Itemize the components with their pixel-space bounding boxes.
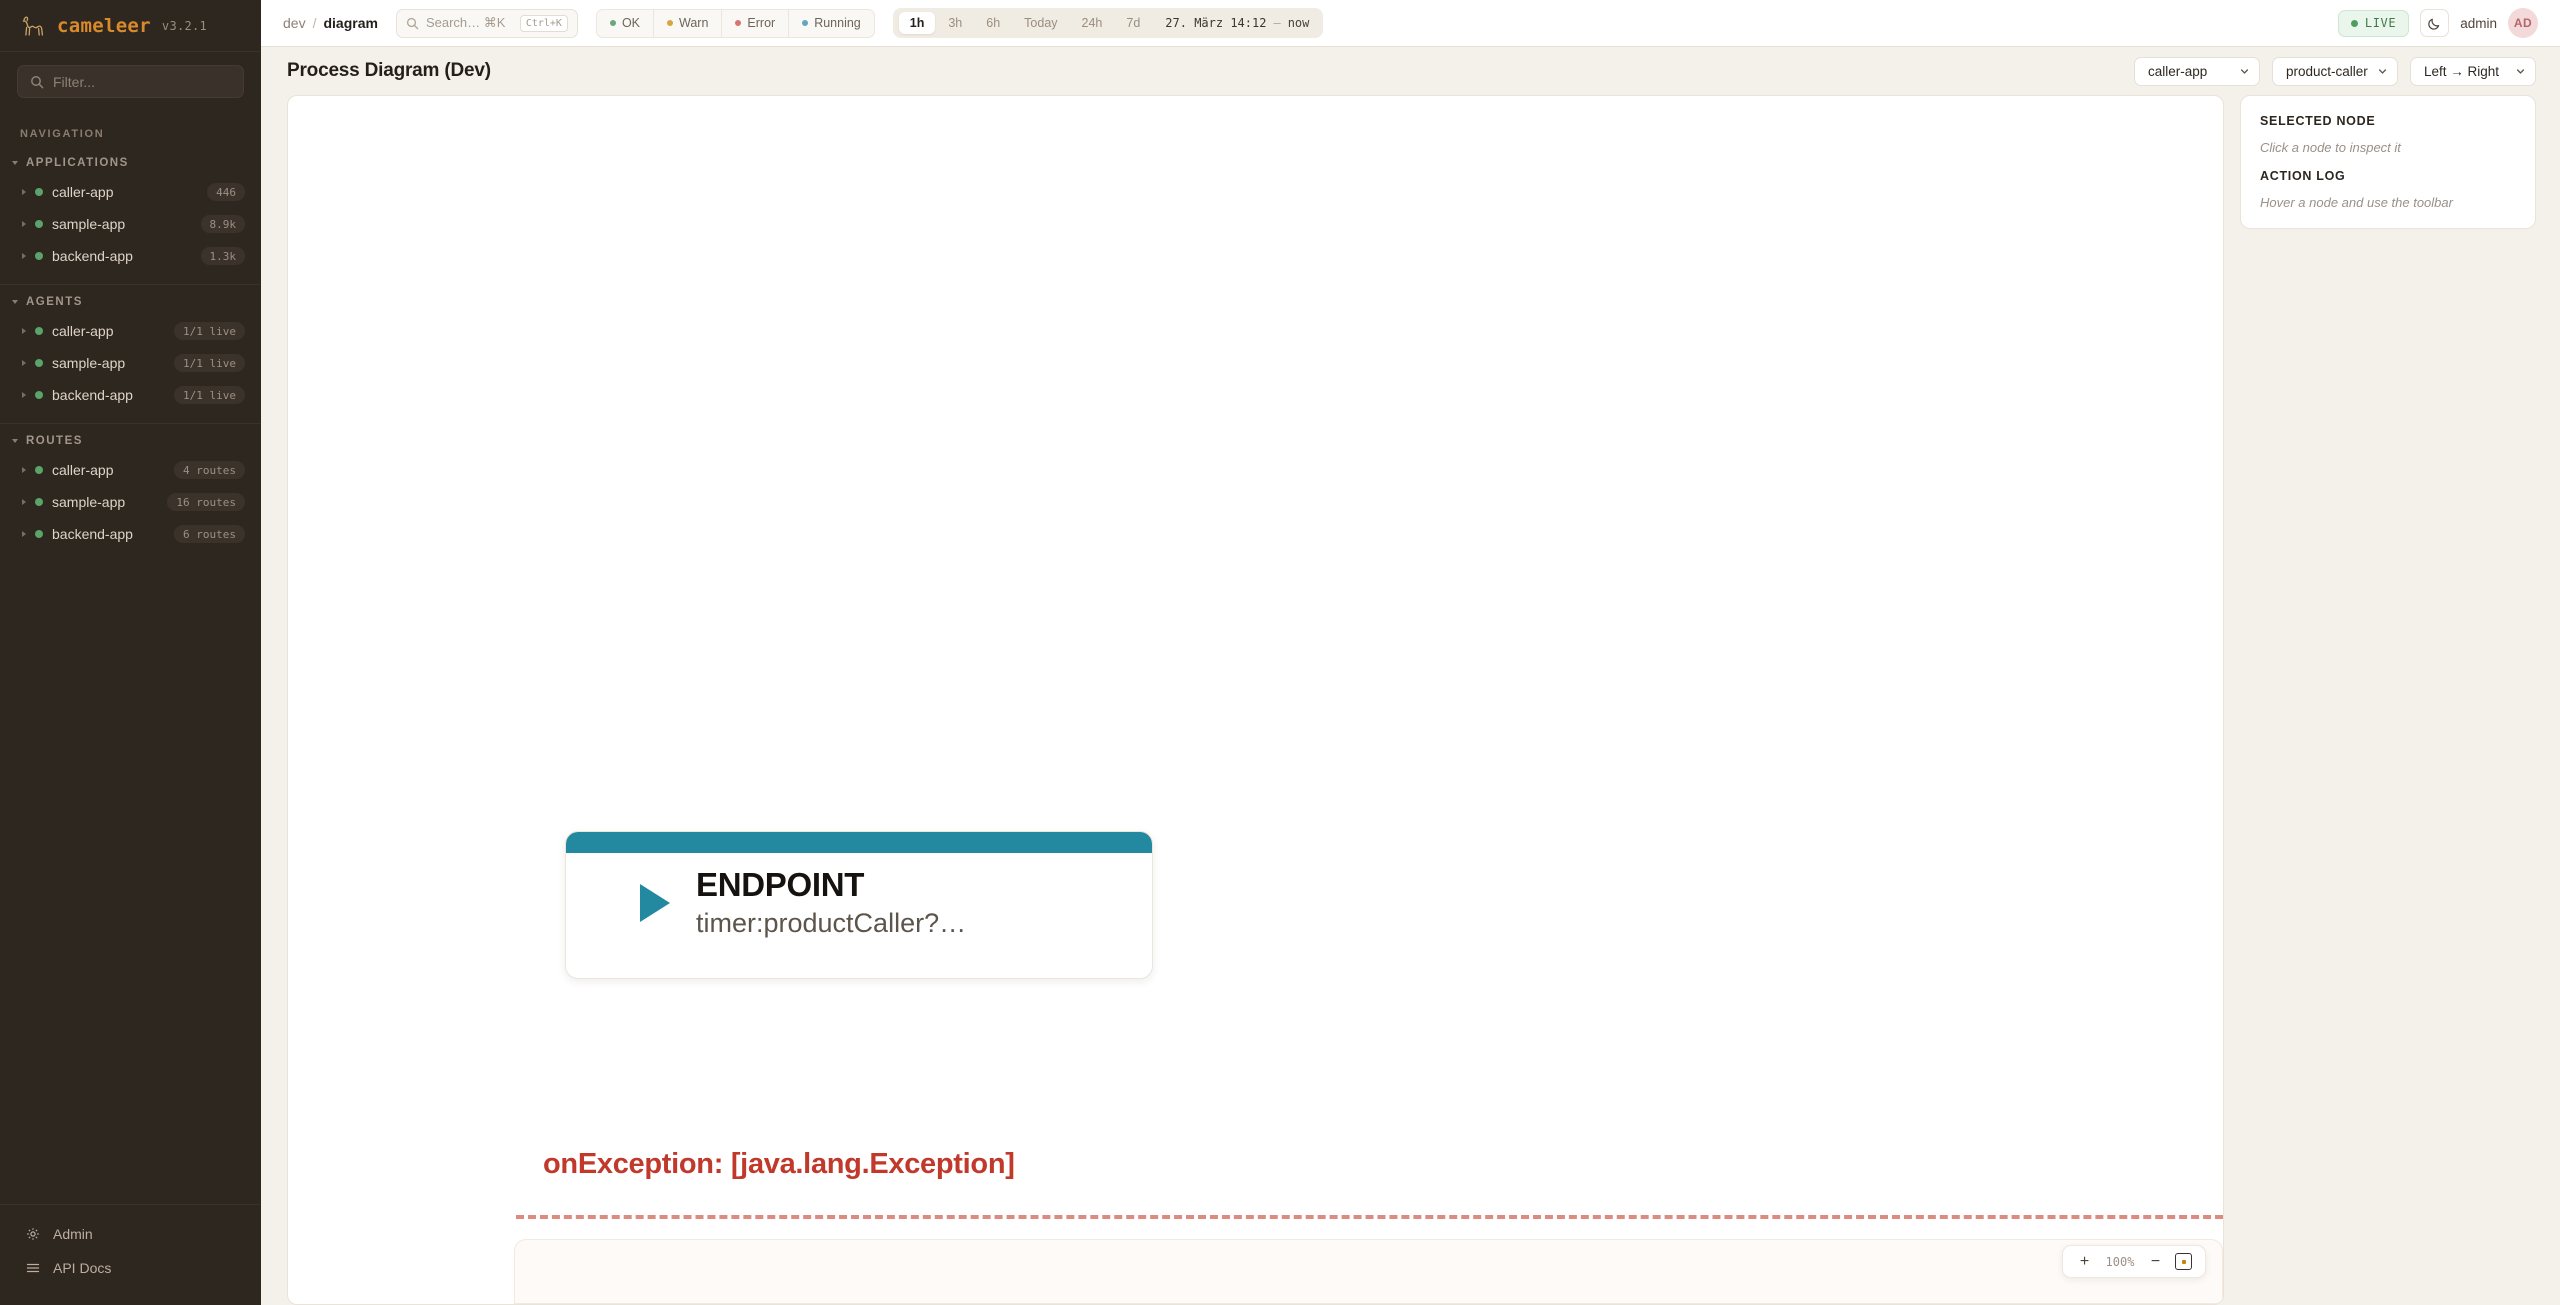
sidebar-item-badge: 1/1 live [174,354,245,372]
chevron-down-icon [2378,67,2387,76]
zoom-controls: + 100% − [2062,1245,2206,1278]
status-filter-ok[interactable]: OK [597,10,654,37]
time-range-to: now [1288,16,1310,30]
avatar[interactable]: AD [2508,8,2538,38]
action-log-hint: Hover a node and use the toolbar [2260,195,2516,210]
chevron-down-icon [2240,67,2249,76]
chevron-right-icon [22,189,26,195]
node-text: ENDPOINT timer:productCaller?… [696,866,966,939]
sidebar-item-badge: 8.9k [201,215,246,233]
inspector-panel: SELECTED NODE Click a node to inspect it… [2240,95,2536,229]
direction-select-value: Left → Right [2424,64,2508,79]
status-dot [35,530,43,538]
sidebar-divider [0,284,261,285]
camel-icon [20,14,46,38]
time-range-dash: – [1273,16,1280,30]
sidebar-item-routes-caller-app[interactable]: caller-app 4 routes [0,454,261,486]
status-dot [35,498,43,506]
sidebar-item-label: sample-app [52,216,192,232]
node-accent-bar [566,832,1152,853]
diagram-node-endpoint[interactable]: ENDPOINT timer:productCaller?… [565,831,1153,979]
page-title: Process Diagram (Dev) [287,60,491,82]
direction-select[interactable]: Left → Right [2410,57,2536,86]
sidebar-item-agents-backend-app[interactable]: backend-app 1/1 live [0,379,261,411]
user-name: admin [2460,16,2497,31]
chevron-right-icon [22,392,26,398]
application-select-value: caller-app [2148,64,2232,79]
sidebar-item-label: sample-app [52,494,158,510]
status-dot-error [735,20,741,26]
search-icon [30,75,44,89]
sidebar-item-applications-caller-app[interactable]: caller-app 446 [0,176,261,208]
sidebar-logo[interactable]: cameleer v3.2.1 [0,0,261,52]
chevron-down-icon [12,439,18,443]
node-body: ENDPOINT timer:productCaller?… [566,853,1152,939]
time-range-from: 27. März 14:12 [1165,16,1266,30]
breadcrumb-root[interactable]: dev [283,15,306,31]
selected-node-title: SELECTED NODE [2260,114,2516,128]
zoom-out-button[interactable]: − [2143,1249,2168,1274]
sidebar-item-admin[interactable]: Admin [0,1217,261,1251]
sidebar-group-routes[interactable]: ROUTES [0,428,261,454]
content-area: ENDPOINT timer:productCaller?… onExcepti… [261,95,2560,1305]
on-exception-divider [516,1215,2223,1219]
theme-toggle-button[interactable] [2420,9,2449,37]
time-range-1h[interactable]: 1h [899,12,936,34]
sidebar-item-label: caller-app [52,323,165,339]
route-select[interactable]: product-caller [2272,57,2398,86]
sidebar-item-label: caller-app [52,184,198,200]
page-header: Process Diagram (Dev) caller-app product… [261,47,2560,95]
chevron-right-icon [22,499,26,505]
sidebar-item-label: backend-app [52,248,192,264]
sidebar-item-routes-backend-app[interactable]: backend-app 6 routes [0,518,261,550]
zoom-level: 100% [2100,1255,2140,1269]
group-label: ROUTES [26,435,83,447]
status-dot [35,188,43,196]
chevron-right-icon [22,531,26,537]
status-label: OK [622,16,640,30]
sidebar-item-applications-sample-app[interactable]: sample-app 8.9k [0,208,261,240]
status-dot-ok [610,20,616,26]
status-dot [35,391,43,399]
fit-view-button[interactable] [2171,1249,2196,1274]
sidebar-item-badge: 1/1 live [174,322,245,340]
nav-caption: NAVIGATION [0,120,261,150]
status-dot [35,252,43,260]
sidebar-item-badge: 4 routes [174,461,245,479]
time-range-today[interactable]: Today [1013,12,1068,34]
sidebar-filter-input[interactable] [53,74,231,90]
status-filter-warn[interactable]: Warn [654,10,722,37]
status-label: Error [747,16,775,30]
sidebar-item-badge: 1.3k [201,247,246,265]
status-filter-group: OK Warn Error Running [596,9,875,38]
action-log-title: ACTION LOG [2260,169,2516,183]
sidebar-item-label: caller-app [52,462,165,478]
topbar: dev / diagram Search… ⌘K Ctrl+K OK Warn [261,0,2560,47]
sidebar-group-applications[interactable]: APPLICATIONS [0,150,261,176]
sidebar-footer-label: API Docs [53,1260,111,1276]
exception-region [514,1239,2223,1304]
play-icon [640,884,670,922]
chevron-right-icon [22,253,26,259]
sidebar-footer-label: Admin [53,1226,93,1242]
fit-view-icon [2175,1253,2192,1270]
status-dot [35,327,43,335]
selected-node-hint: Click a node to inspect it [2260,140,2516,155]
status-dot-running [802,20,808,26]
sidebar-item-label: backend-app [52,387,165,403]
search-input[interactable]: Search… ⌘K Ctrl+K [396,9,578,38]
diagram-canvas[interactable]: ENDPOINT timer:productCaller?… onExcepti… [287,95,2224,1305]
group-label: APPLICATIONS [26,157,129,169]
sidebar-filter[interactable] [17,65,244,98]
status-dot [35,359,43,367]
status-dot [35,220,43,228]
menu-icon [26,1261,40,1275]
on-exception-label: onException: [java.lang.Exception] [543,1148,1015,1181]
sidebar-item-agents-sample-app[interactable]: sample-app 1/1 live [0,347,261,379]
time-range-display[interactable]: 27. März 14:12 – now [1165,16,1317,30]
status-filter-running[interactable]: Running [789,10,874,37]
status-filter-error[interactable]: Error [722,10,789,37]
sidebar-item-badge: 16 routes [167,493,245,511]
breadcrumb-separator: / [313,15,317,31]
sidebar-item-applications-backend-app[interactable]: backend-app 1.3k [0,240,261,272]
sidebar-item-label: sample-app [52,355,165,371]
zoom-in-button[interactable]: + [2072,1249,2097,1274]
logo-name: cameleer [57,15,151,37]
sidebar-item-label: backend-app [52,526,165,542]
search-icon [406,17,419,30]
moon-icon [2427,16,2442,31]
time-range-7d[interactable]: 7d [1115,12,1151,34]
main-area: dev / diagram Search… ⌘K Ctrl+K OK Warn [261,0,2560,1305]
chevron-down-icon [2516,67,2525,76]
live-indicator[interactable]: LIVE [2338,10,2409,37]
chevron-down-icon [12,161,18,165]
sidebar-nav: NAVIGATION APPLICATIONS caller-app 446 s… [0,108,261,1204]
status-dot-warn [667,20,673,26]
diagram-filters: caller-app product-caller Left → Right [2134,57,2536,86]
gear-icon [26,1227,40,1241]
sidebar-item-agents-caller-app[interactable]: caller-app 1/1 live [0,315,261,347]
breadcrumb: dev / diagram [283,15,378,31]
node-type-label: ENDPOINT [696,866,966,904]
status-label: Warn [679,16,708,30]
time-range-6h[interactable]: 6h [975,12,1011,34]
live-dot [2351,20,2358,27]
sidebar-item-api-docs[interactable]: API Docs [0,1251,261,1285]
search-placeholder: Search… ⌘K [426,15,513,31]
sidebar-item-routes-sample-app[interactable]: sample-app 16 routes [0,486,261,518]
live-label: LIVE [2365,16,2396,30]
sidebar-footer: Admin API Docs [0,1204,261,1305]
app-root: cameleer v3.2.1 NAVIGATION APPLICATIONS … [0,0,2560,1305]
search-shortcut-badge: Ctrl+K [520,15,568,32]
topbar-right: LIVE admin AD [2338,8,2538,38]
chevron-right-icon [22,360,26,366]
sidebar-item-badge: 6 routes [174,525,245,543]
route-select-value: product-caller [2286,64,2370,79]
logo-version: v3.2.1 [162,19,207,33]
group-label: AGENTS [26,296,83,308]
time-range-24h[interactable]: 24h [1071,12,1114,34]
status-dot [35,466,43,474]
time-range-selector: 1h 3h 6h Today 24h 7d 27. März 14:12 – n… [893,8,1324,38]
sidebar-group-agents[interactable]: AGENTS [0,289,261,315]
sidebar-item-badge: 446 [207,183,245,201]
status-label: Running [814,16,861,30]
sidebar-item-badge: 1/1 live [174,386,245,404]
node-uri-label: timer:productCaller?… [696,907,966,939]
sidebar: cameleer v3.2.1 NAVIGATION APPLICATIONS … [0,0,261,1305]
time-range-3h[interactable]: 3h [937,12,973,34]
chevron-right-icon [22,328,26,334]
chevron-right-icon [22,467,26,473]
chevron-down-icon [12,300,18,304]
sidebar-divider [0,423,261,424]
chevron-right-icon [22,221,26,227]
breadcrumb-current: diagram [323,15,377,31]
application-select[interactable]: caller-app [2134,57,2260,86]
sidebar-filter-wrap [0,52,261,108]
